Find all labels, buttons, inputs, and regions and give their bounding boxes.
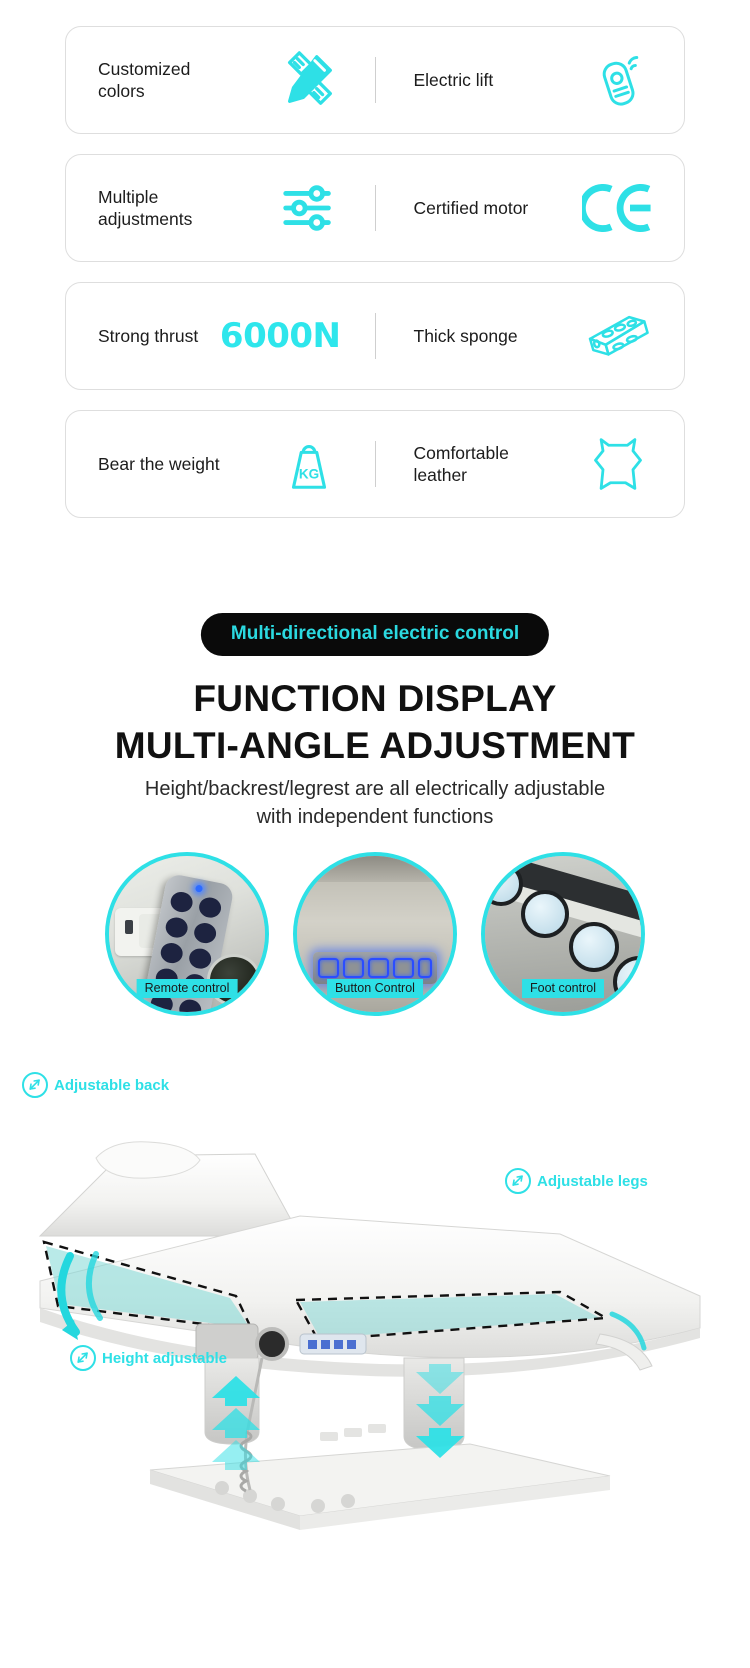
annotation-height-adjustable: Height adjustable bbox=[70, 1345, 227, 1371]
control-photo-row: Remote control Button Control Foot contr… bbox=[0, 852, 750, 1016]
feature-multiple-adjustments: Multipleadjustments bbox=[66, 155, 375, 261]
remote-control-photo: Remote control bbox=[105, 852, 269, 1016]
feature-label: Electric lift bbox=[414, 69, 494, 91]
page-subtitle-line-2: with independent functions bbox=[257, 806, 494, 828]
annotation-label: Adjustable back bbox=[54, 1077, 169, 1094]
photo-caption: Foot control bbox=[522, 979, 604, 998]
feature-card-1: Customizedcolors Electric lift bbox=[65, 26, 685, 134]
thrust-value: 6000N bbox=[220, 316, 341, 356]
rotate-arrow-icon bbox=[22, 1072, 48, 1098]
photo-caption: Remote control bbox=[137, 979, 238, 998]
feature-card-4: Bear the weight KG Comfortableleather bbox=[65, 410, 685, 518]
svg-text:KG: KG bbox=[298, 467, 318, 482]
feature-label: Comfortableleather bbox=[414, 442, 509, 487]
rotate-arrow-icon bbox=[70, 1345, 96, 1371]
page-subtitle: Height/backrest/legrest are all electric… bbox=[0, 775, 750, 832]
sponge-icon bbox=[582, 300, 654, 372]
feature-card-3: Strong thrust 6000N Thick sponge bbox=[65, 282, 685, 390]
page-title: FUNCTION DISPLAY MULTI-ANGLE ADJUSTMENT bbox=[0, 676, 750, 769]
rotate-arrow-icon bbox=[505, 1168, 531, 1194]
feature-strong-thrust: Strong thrust 6000N bbox=[66, 283, 375, 389]
page-subtitle-line-1: Height/backrest/legrest are all electric… bbox=[145, 778, 605, 800]
feature-electric-lift: Electric lift bbox=[376, 27, 685, 133]
page-title-line-1: FUNCTION DISPLAY bbox=[193, 678, 556, 719]
remote-control-icon bbox=[582, 44, 654, 116]
ce-mark-icon bbox=[582, 172, 654, 244]
leather-hide-icon bbox=[582, 428, 654, 500]
sliders-icon bbox=[273, 172, 345, 244]
foot-control-photo: Foot control bbox=[481, 852, 645, 1016]
feature-label: Certified motor bbox=[414, 197, 529, 219]
pen-ruler-icon bbox=[273, 44, 345, 116]
product-detail-page: Customizedcolors Electric lift bbox=[0, 0, 750, 1668]
page-title-line-2: MULTI-ANGLE ADJUSTMENT bbox=[0, 723, 750, 770]
feature-label: Strong thrust bbox=[98, 325, 198, 347]
feature-thick-sponge: Thick sponge bbox=[376, 283, 685, 389]
button-control-photo: Button Control bbox=[293, 852, 457, 1016]
feature-certified-motor: Certified motor bbox=[376, 155, 685, 261]
feature-label: Bear the weight bbox=[98, 453, 220, 475]
annotation-adjustable-legs: Adjustable legs bbox=[505, 1168, 648, 1194]
annotation-adjustable-back: Adjustable back bbox=[22, 1072, 169, 1098]
feature-label: Customizedcolors bbox=[98, 58, 190, 103]
feature-cards: Customizedcolors Electric lift bbox=[0, 26, 750, 538]
section-badge: Multi-directional electric control bbox=[201, 613, 549, 656]
feature-comfortable-leather: Comfortableleather bbox=[376, 411, 685, 517]
photo-caption: Button Control bbox=[327, 979, 423, 998]
kg-weight-icon: KG bbox=[273, 428, 345, 500]
feature-label: Multipleadjustments bbox=[98, 186, 192, 231]
feature-bear-the-weight: Bear the weight KG bbox=[66, 411, 375, 517]
feature-card-2: Multipleadjustments Certified motor bbox=[65, 154, 685, 262]
feature-customized-colors: Customizedcolors bbox=[66, 27, 375, 133]
annotation-label: Adjustable legs bbox=[537, 1173, 648, 1190]
feature-label: Thick sponge bbox=[414, 325, 518, 347]
annotation-label: Height adjustable bbox=[102, 1350, 227, 1367]
